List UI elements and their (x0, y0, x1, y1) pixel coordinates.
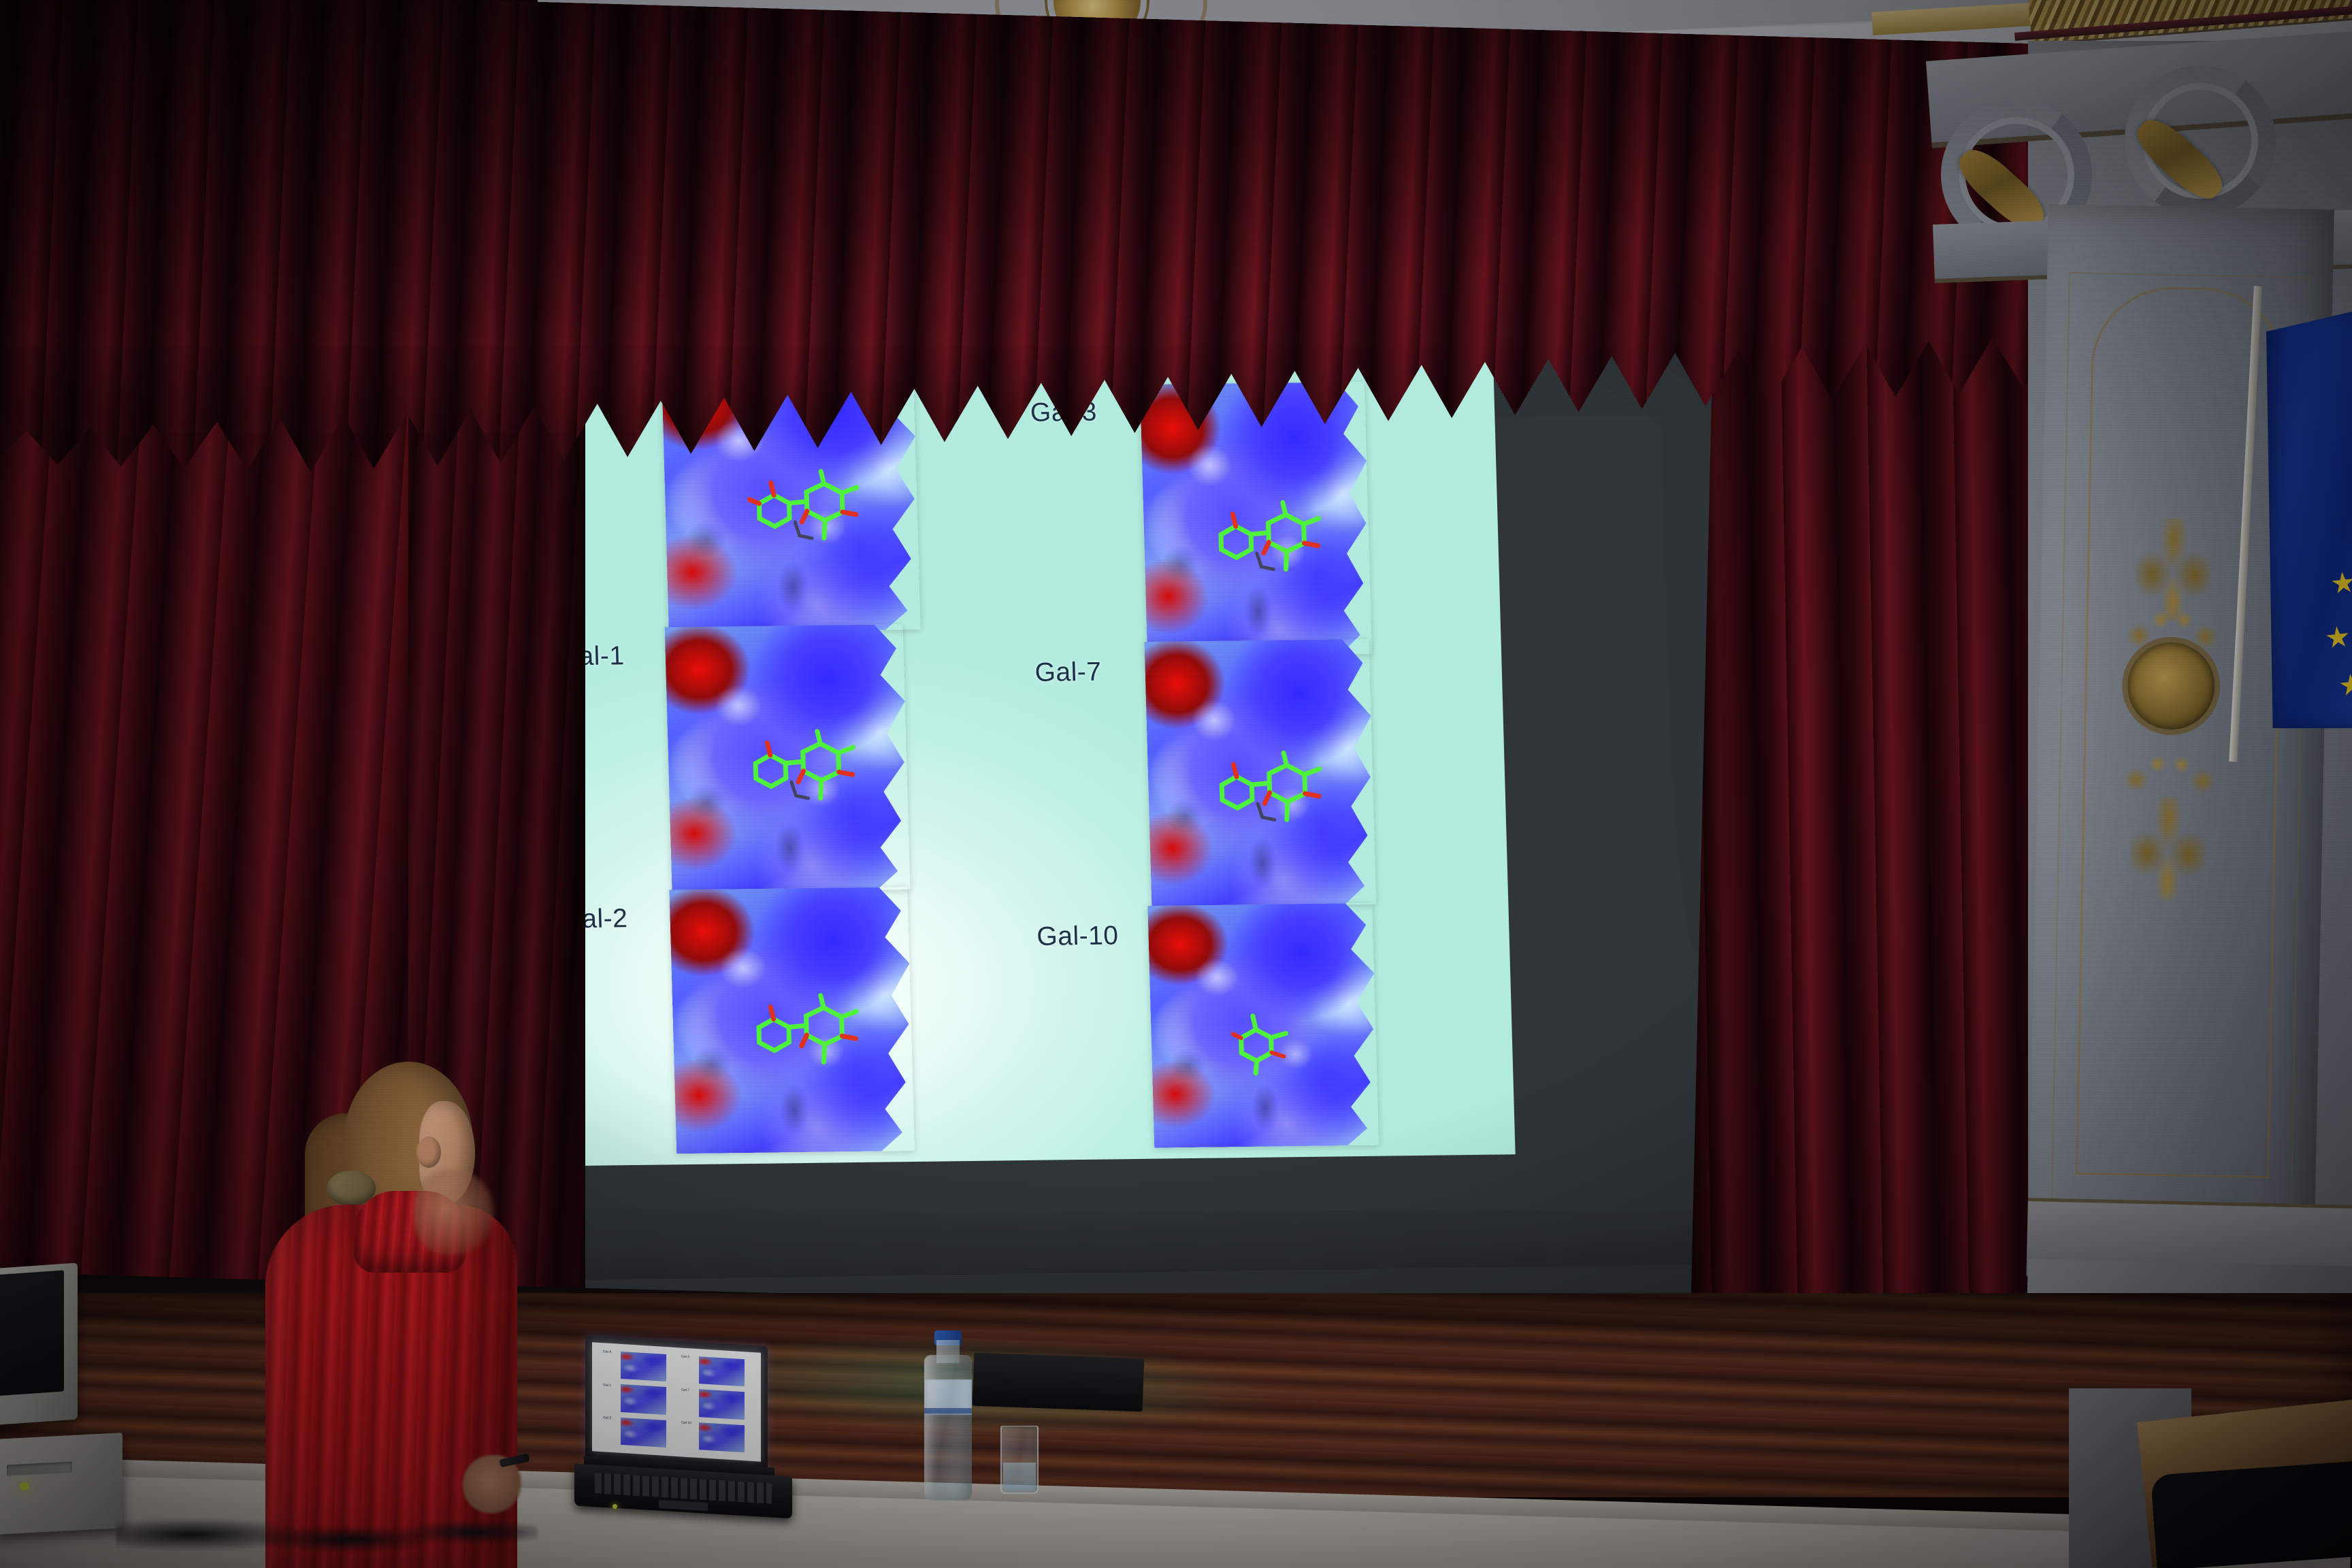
electrostatic-surface (1140, 382, 1372, 657)
laptop-thumb (699, 1390, 745, 1420)
laptop-thumb (699, 1422, 745, 1452)
laptop-panel: Gal-2 (603, 1416, 672, 1450)
laptop-thumb (621, 1352, 666, 1382)
laptop-label-gal-10: Gal-10 (681, 1421, 691, 1426)
presenter-gesturing-hand (414, 1169, 494, 1255)
laptop-panel: Gal-4 (603, 1349, 672, 1384)
cable-bundle (116, 1511, 538, 1558)
slide-panel-gal-2 (669, 887, 915, 1154)
laptop-label-gal-2: Gal-2 (603, 1416, 611, 1420)
speaker-box (973, 1353, 1145, 1412)
electrostatic-surface (669, 887, 915, 1154)
laptop-panel: Gal-3 (681, 1354, 750, 1388)
water-bottle[interactable] (924, 1330, 972, 1501)
dark-cloth (2151, 1460, 2352, 1568)
laptop-panel: Gal-1 (603, 1382, 672, 1417)
presenter-ear (416, 1137, 441, 1168)
laptop-power-led-icon (612, 1504, 617, 1509)
laptop-label-gal-3: Gal-3 (681, 1354, 689, 1359)
tower-power-led-icon (20, 1482, 29, 1490)
presenter (265, 1048, 551, 1568)
laptop-thumb (621, 1418, 666, 1448)
rococo-ornament (2095, 517, 2246, 901)
eu-flag-icon (2266, 306, 2352, 728)
laptop-slide-grid: Gal-4 Gal-3 Gal-1 Gal-7 Gal-2 (603, 1349, 750, 1455)
laptop-panel: Gal-7 (681, 1387, 750, 1422)
laptop-label-gal-4: Gal-4 (603, 1350, 611, 1354)
flag-star (2330, 570, 2352, 595)
slide-panel-gal-10 (1147, 903, 1379, 1148)
flag-star (2325, 625, 2350, 650)
slide-panel-gal-7 (1144, 639, 1376, 907)
ornament-leaf-bottom-icon (2129, 797, 2206, 900)
computer-tower[interactable] (0, 1433, 122, 1535)
laptop[interactable]: Gal-4 Gal-3 Gal-1 Gal-7 Gal-2 (585, 1341, 796, 1518)
crt-monitor[interactable] (0, 1266, 78, 1422)
slide-content: Gal-4 (540, 345, 1515, 1166)
laptop-label-gal-7: Gal-7 (681, 1388, 689, 1392)
drinking-glass[interactable] (1000, 1426, 1039, 1494)
laptop-thumb (699, 1356, 745, 1386)
electrostatic-surface (665, 624, 911, 892)
laptop-thumb (621, 1384, 666, 1414)
slide-label-gal-10: Gal-10 (1036, 921, 1119, 951)
glass-water (1003, 1463, 1036, 1491)
electrostatic-surface (1144, 639, 1376, 907)
slide-label-gal-7: Gal-7 (1034, 657, 1102, 688)
projected-slide: Gal-4 (540, 345, 1515, 1166)
monitor-screen[interactable] (0, 1270, 64, 1396)
flag-star (2338, 672, 2352, 698)
slide-panel-gal-1 (665, 624, 911, 892)
ornament-medallion-icon (2127, 642, 2215, 730)
laptop-panel: Gal-10 (681, 1420, 750, 1455)
laptop-screen[interactable]: Gal-4 Gal-3 Gal-1 Gal-7 Gal-2 (592, 1342, 761, 1462)
bottle-body (924, 1355, 972, 1501)
bottle-label-stripe (924, 1408, 972, 1414)
electrostatic-surface (1147, 903, 1379, 1148)
slide-panel-gal-3 (1140, 382, 1372, 657)
laptop-label-gal-1: Gal-1 (603, 1383, 611, 1388)
photo-scene: Gal-4 (0, 0, 2352, 1568)
